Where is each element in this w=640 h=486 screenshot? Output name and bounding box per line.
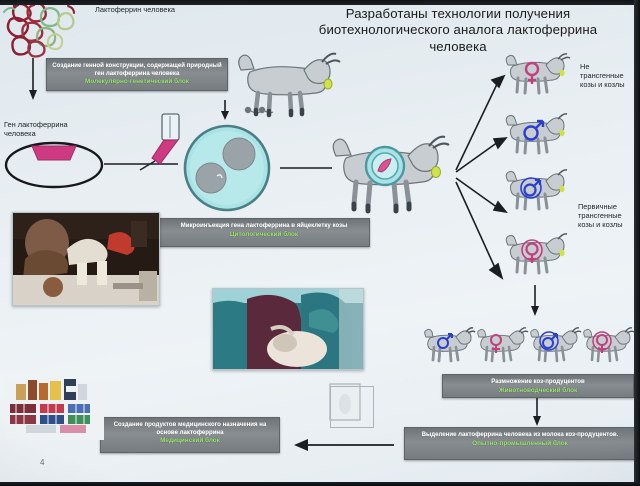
process-box-text: Размножение коз-продуцентов — [491, 378, 585, 385]
offspring-goat-female-non-transgenic-icon — [505, 52, 567, 104]
arrow-left-to-medical-icon — [288, 436, 398, 456]
arrow-down-into-egg-icon — [218, 100, 234, 122]
primary-transgenic-line-2: трансгенные — [578, 211, 640, 220]
non-transgenic-line-2: трансгенные — [580, 71, 640, 80]
process-box-text: Создание продуктов медицинского назначен… — [114, 421, 267, 436]
screen-edge-top — [0, 0, 640, 5]
slide-number: 4 — [40, 458, 44, 467]
process-block-label: Медицинский блок — [106, 437, 274, 446]
photo-surgery-embryo-transfer — [212, 288, 364, 370]
presentation-slide: Разработаны технологии получения биотехн… — [0, 0, 640, 486]
primary-transgenic-line-1: Первичные — [578, 202, 640, 211]
process-box-pilot-industrial: Выделение лактоферрина человека из молок… — [404, 427, 636, 460]
offspring-goat-female-transgenic-icon — [505, 232, 567, 284]
photo-lab-microinjection — [12, 212, 160, 306]
lactoferrin-protein-icon — [2, 0, 92, 58]
arrow-down-to-breeding-icon — [528, 285, 544, 319]
process-box-molecular-genetic: Создание генной конструкции, содержащей … — [46, 58, 228, 91]
oocyte-egg-cell-icon — [175, 118, 283, 220]
plasmid-construct-icon — [2, 140, 112, 192]
donor-goat-icon — [236, 48, 346, 120]
gene-plasmid-line-2: человека — [4, 129, 94, 138]
photo-lab-content — [13, 213, 160, 306]
process-block-label: Животноводческий блок — [448, 387, 628, 396]
arrow-down-to-plasmid-icon — [24, 56, 44, 104]
non-transgenic-label: Не трансгенные козы и козлы — [580, 62, 640, 90]
process-box-medical: Создание продуктов медицинского назначен… — [100, 417, 280, 453]
process-block-label: Молекулярно-генетический блок — [52, 78, 222, 87]
process-box-text: Выделение лактоферрина человека из молок… — [422, 431, 619, 438]
breeding-goats-row-icon — [424, 326, 636, 374]
primary-transgenic-label: Первичные трансгенные козы и козлы — [578, 202, 640, 230]
offspring-goat-male-non-transgenic-icon — [505, 112, 567, 164]
non-transgenic-line-3: козы и козлы — [580, 80, 640, 89]
recipient-goat-with-embryo-icon — [330, 128, 460, 226]
process-block-label: Опытно-промышленный блок — [410, 440, 630, 449]
process-box-animal-husbandry: Размножение коз-продуцентов Животноводче… — [442, 374, 634, 398]
photo-pharmaceutical-products — [6, 378, 104, 440]
process-block-label: Цитологический блок — [164, 231, 364, 240]
offspring-goat-male-transgenic-icon — [505, 168, 567, 220]
milk-sample-frame — [330, 386, 374, 428]
gene-plasmid-line-1: Ген лактоферрина — [4, 120, 94, 129]
non-transgenic-line-1: Не — [580, 62, 640, 71]
process-box-text: Микроинъекция гена лактоферрина в яйцекл… — [181, 222, 348, 229]
title-line-1: Разработаны технологии получения — [296, 6, 620, 22]
title-line-2: биотехнологического аналога лактоферрина — [296, 22, 620, 38]
primary-transgenic-line-3: козы и козлы — [578, 220, 640, 229]
photo-surgery-content — [213, 289, 364, 370]
gene-plasmid-label: Ген лактоферрина человека — [4, 120, 94, 139]
arrow-down-to-isolation-icon — [530, 398, 546, 428]
process-box-text: Создание генной конструкции, содержащей … — [52, 62, 221, 77]
screen-edge-right — [634, 0, 640, 486]
screen-edge-bottom — [0, 482, 640, 486]
lactoferrin-protein-label: Лактоферрин человека — [95, 5, 225, 14]
photo-products-content — [6, 378, 104, 440]
